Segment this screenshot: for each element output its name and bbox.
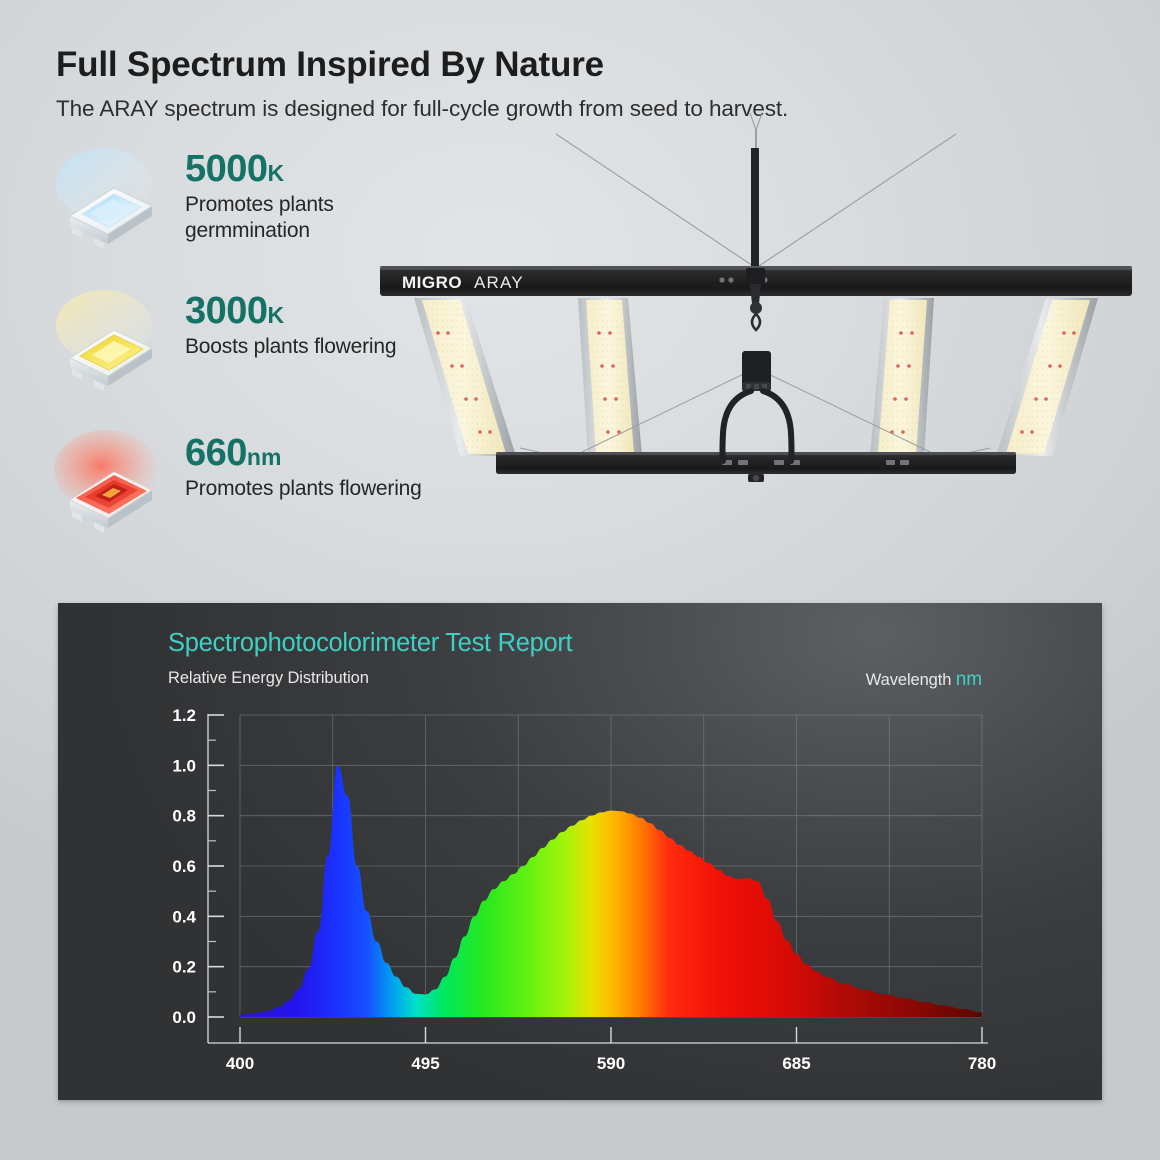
fixture-hanger (723, 268, 792, 461)
svg-text:ARAY: ARAY (474, 273, 524, 292)
feature-description-3000k: Boosts plants flowering (185, 334, 396, 360)
svg-text:1.2: 1.2 (172, 706, 196, 725)
svg-text:590: 590 (597, 1054, 625, 1073)
feature-item-3000k: 3000K Boosts plants flowering (52, 282, 422, 424)
feature-value-3000k: 3000K (185, 292, 396, 330)
svg-text:MIGRO: MIGRO (402, 273, 462, 292)
svg-text:0.8: 0.8 (172, 807, 196, 826)
svg-text:1.0: 1.0 (172, 756, 196, 775)
svg-text:400: 400 (226, 1054, 254, 1073)
svg-text:0.0: 0.0 (172, 1008, 196, 1027)
led-chip-660nm-icon (52, 428, 172, 538)
product-image: MIGRO ARAY (370, 108, 1150, 508)
page-title: Full Spectrum Inspired By Nature (56, 46, 1056, 85)
svg-text:0.6: 0.6 (172, 857, 196, 876)
feature-item-660nm: 660nm Promotes plants flowering (52, 424, 422, 566)
spectrum-plot: 1.21.00.80.60.40.20.0400495590685780 (58, 603, 1102, 1100)
fixture-bottom-rail (496, 452, 1016, 482)
svg-text:495: 495 (411, 1054, 439, 1073)
feature-list: 5000K Promotes plants germmination (52, 140, 422, 566)
feature-item-5000k: 5000K Promotes plants germmination (52, 140, 422, 282)
svg-text:0.2: 0.2 (172, 958, 196, 977)
svg-text:685: 685 (782, 1054, 810, 1073)
led-chip-5000k-icon (52, 144, 172, 254)
svg-text:780: 780 (968, 1054, 996, 1073)
led-chip-3000k-icon (52, 286, 172, 396)
svg-text:0.4: 0.4 (172, 907, 196, 926)
chart-panel: Spectrophotocolorimeter Test Report Rela… (58, 603, 1102, 1100)
